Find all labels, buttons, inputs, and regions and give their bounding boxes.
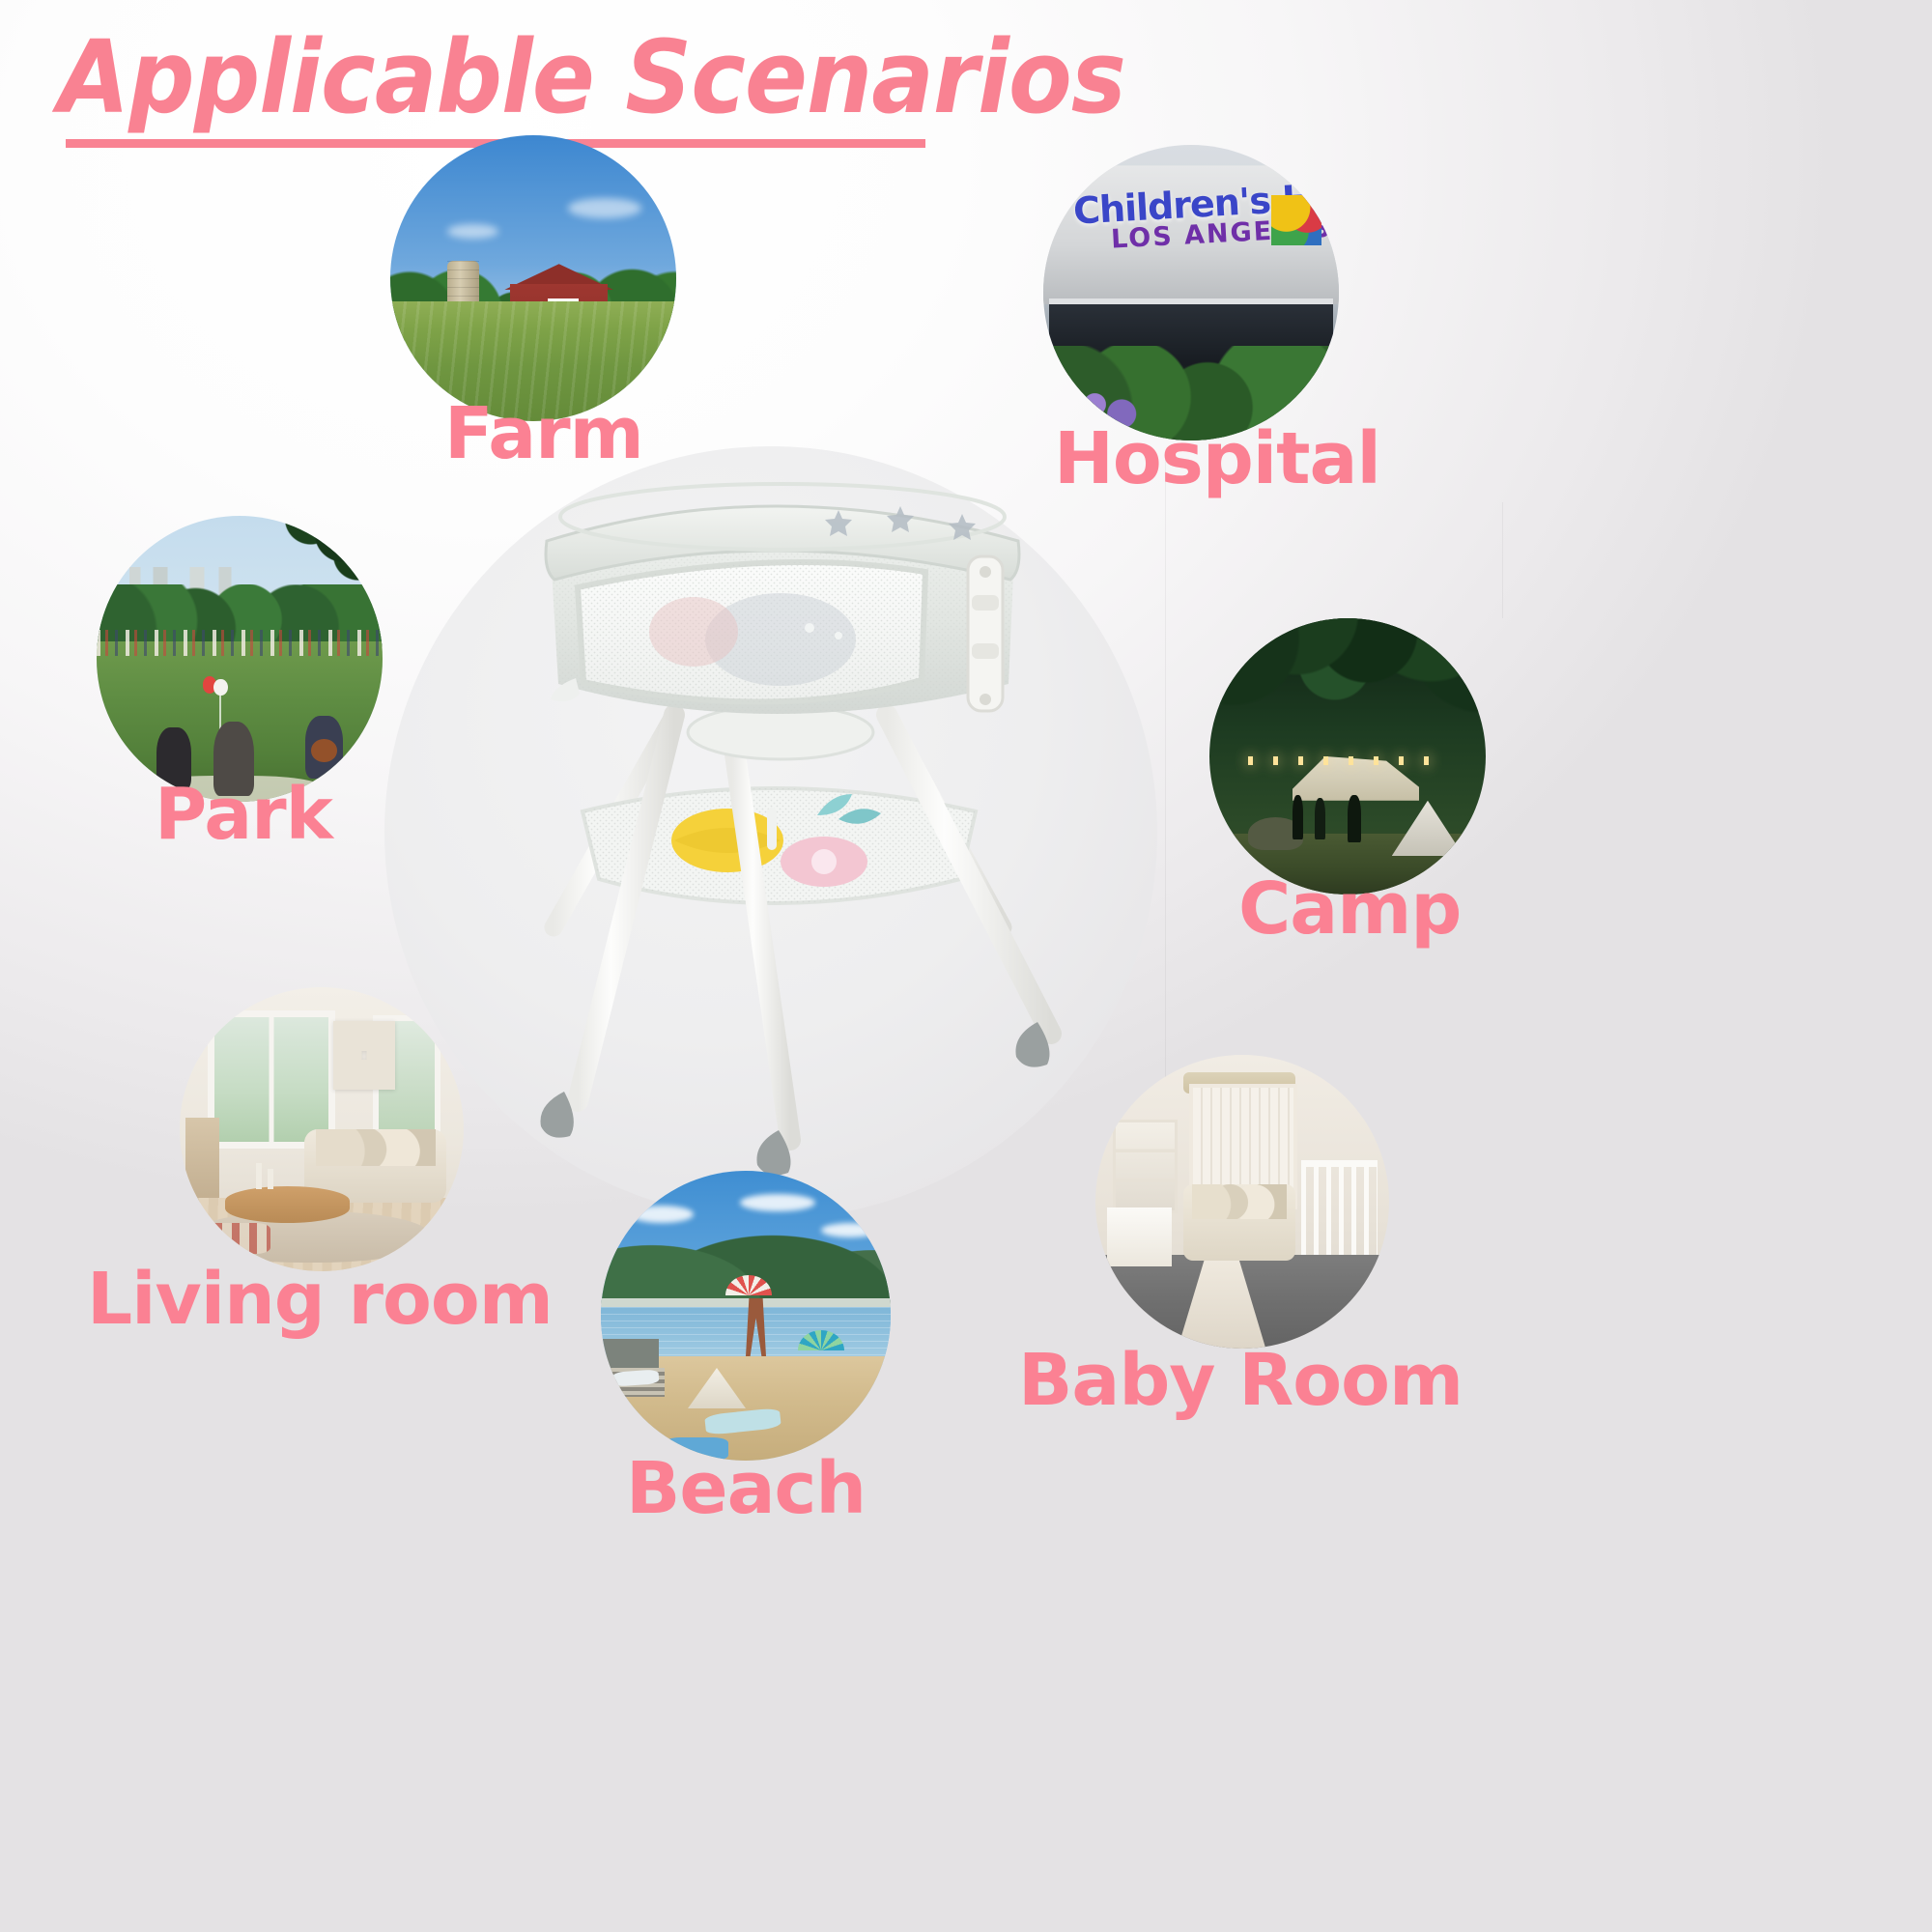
poster-canvas: Applicable Scenarios <box>0 0 1932 1932</box>
scenario-baby-room[interactable]: Baby Room <box>1095 1055 1389 1349</box>
scenario-label-beach: Beach <box>626 1453 866 1524</box>
scenario-label-hospital: Hospital <box>1054 423 1380 495</box>
scenario-camp[interactable]: Camp <box>1209 618 1486 895</box>
scenario-farm[interactable]: Farm <box>390 135 676 421</box>
beach-photo <box>601 1171 891 1461</box>
hospital-photo: Children's Hospital LOS ANGELES <box>1043 145 1339 440</box>
scenario-label-baby-room: Baby Room <box>1018 1345 1463 1416</box>
background-hairline <box>1165 454 1166 1130</box>
farm-photo <box>390 135 676 421</box>
camp-photo <box>1209 618 1486 895</box>
scenario-label-camp: Camp <box>1238 873 1461 945</box>
page-title-block: Applicable Scenarios <box>58 27 1218 128</box>
hospital-logo-icon <box>1271 195 1321 245</box>
scenario-label-farm: Farm <box>444 398 643 469</box>
living-room-photo <box>180 987 464 1271</box>
scenario-living-room[interactable]: Living room <box>180 987 464 1271</box>
bassinet-illustration <box>384 425 1157 1217</box>
scenario-label-living-room: Living room <box>87 1264 553 1335</box>
baby-room-photo <box>1095 1055 1389 1349</box>
page-title: Applicable Scenarios <box>58 27 1125 128</box>
background-hairline <box>1502 502 1503 618</box>
scenario-hospital[interactable]: Children's Hospital LOS ANGELES Hospital <box>1043 145 1339 440</box>
product-image-bassinet <box>384 425 1157 1217</box>
park-photo <box>97 516 383 802</box>
scenario-beach[interactable]: Beach <box>601 1171 891 1461</box>
scenario-park[interactable]: Park <box>97 516 383 802</box>
scenario-label-park: Park <box>155 779 332 850</box>
